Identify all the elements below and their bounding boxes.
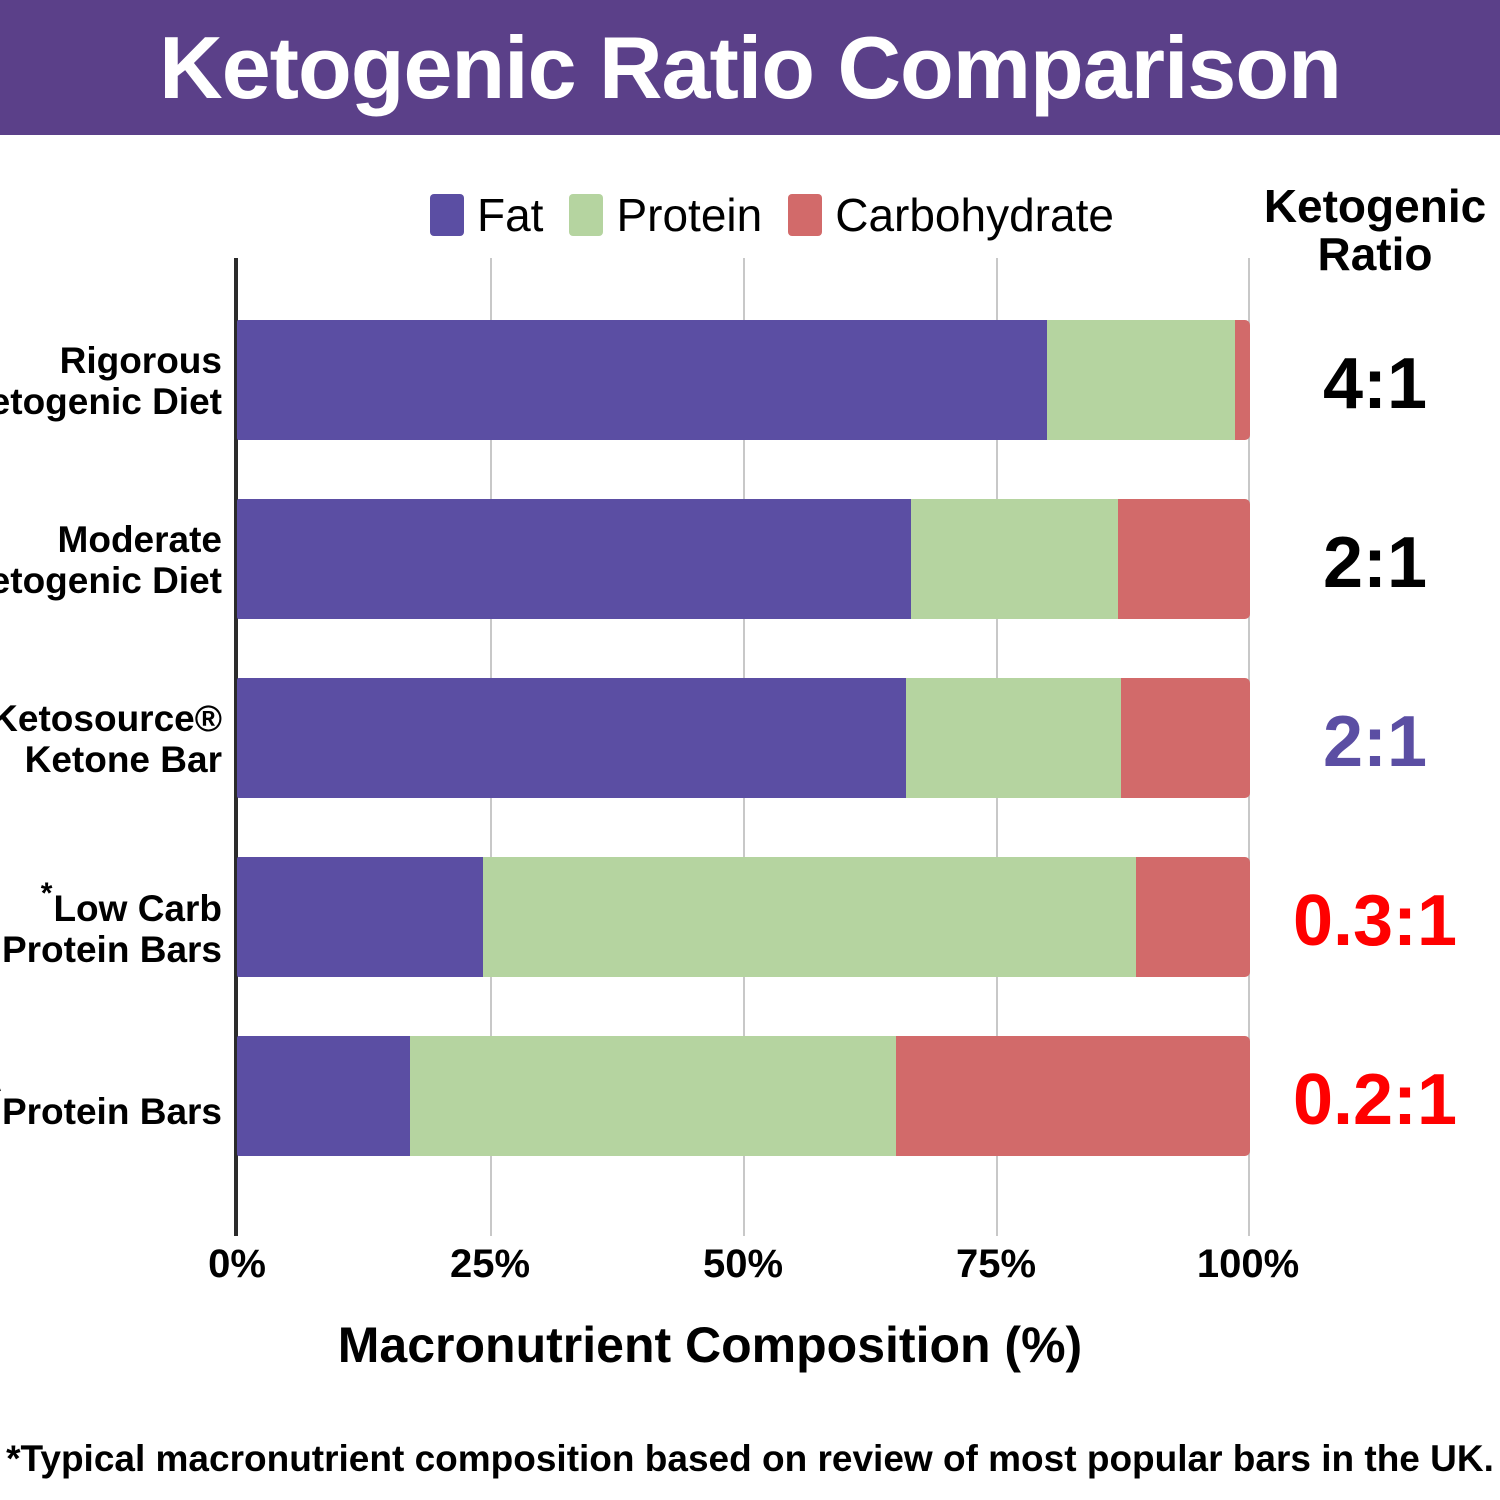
bar-segment-protein xyxy=(410,1036,896,1156)
bar-segment-carbohydrate xyxy=(1235,320,1250,440)
status-badge-ratio-0: 4:1 xyxy=(1250,348,1500,420)
category-label-4-line1: Protein Bars xyxy=(2,1091,222,1132)
category-label-2-line2: Ketone Bar xyxy=(25,739,222,780)
legend-label-fat: Fat xyxy=(477,192,543,238)
table-row xyxy=(237,678,1250,798)
x-axis-tick-25: 25% xyxy=(390,1244,590,1284)
bar-segment-protein xyxy=(483,857,1135,977)
category-label-3-line1: Low Carb xyxy=(53,888,222,929)
footnote-asterisk-marker-3: * xyxy=(41,877,53,910)
status-badge-ratio-3: 0.3:1 xyxy=(1250,885,1500,957)
x-axis-title: Macronutrient Composition (%) xyxy=(0,1320,1420,1370)
bar-segment-fat xyxy=(237,320,1047,440)
x-axis-tick-100: 100% xyxy=(1148,1244,1348,1284)
category-label-4: *Protein Bars xyxy=(0,1080,222,1132)
bar-segment-carbohydrate xyxy=(1136,857,1250,977)
category-label-0: Rigorous Ketogenic Diet xyxy=(0,340,222,423)
bar-segment-fat xyxy=(237,1036,410,1156)
category-label-2: Ketosource® Ketone Bar xyxy=(0,698,222,781)
legend-swatch-carbohydrate xyxy=(788,194,822,236)
bar-segment-carbohydrate xyxy=(1121,678,1250,798)
legend-label-protein: Protein xyxy=(616,192,762,238)
x-axis-tick-0: 0% xyxy=(137,1244,337,1284)
bar-segment-protein xyxy=(906,678,1122,798)
legend-swatch-fat xyxy=(430,194,464,236)
bar-segment-protein xyxy=(911,499,1119,619)
bar-segment-fat xyxy=(237,499,911,619)
table-row xyxy=(237,499,1250,619)
status-badge-ratio-2: 2:1 xyxy=(1250,706,1500,778)
category-label-1: Moderate Ketogenic Diet xyxy=(0,519,222,602)
chart-footnote: *Typical macronutrient composition based… xyxy=(0,1440,1500,1477)
ratio-header-line2: Ratio xyxy=(1250,230,1500,278)
table-row xyxy=(237,320,1250,440)
status-badge-ratio-1: 2:1 xyxy=(1250,527,1500,599)
ratio-header-line1: Ketogenic xyxy=(1250,182,1500,230)
bar-segment-protein xyxy=(1047,320,1234,440)
footnote-asterisk-marker-4: * xyxy=(0,1080,1,1113)
ratio-column-header: Ketogenic Ratio xyxy=(1250,182,1500,279)
x-axis-tick-50: 50% xyxy=(643,1244,843,1284)
title-banner: Ketogenic Ratio Comparison xyxy=(0,0,1500,135)
legend-item-carbohydrate: Carbohydrate xyxy=(788,192,1114,238)
category-label-3: *Low Carb Protein Bars xyxy=(0,877,222,971)
category-label-2-line1: Ketosource® xyxy=(0,698,222,739)
legend-item-fat: Fat xyxy=(430,192,543,238)
legend-item-protein: Protein xyxy=(569,192,762,238)
bar-segment-carbohydrate xyxy=(896,1036,1250,1156)
table-row xyxy=(237,857,1250,977)
bar-segment-fat xyxy=(237,857,483,977)
chart-legend: Fat Protein Carbohydrate xyxy=(430,186,1114,244)
plot-area xyxy=(237,258,1250,1236)
bar-segment-fat xyxy=(237,678,906,798)
category-label-1-line2: Ketogenic Diet xyxy=(0,560,222,601)
category-label-0-line2: Ketogenic Diet xyxy=(0,381,222,422)
table-row xyxy=(237,1036,1250,1156)
category-label-3-line2: Protein Bars xyxy=(2,929,222,970)
bar-segment-carbohydrate xyxy=(1118,499,1250,619)
category-label-0-line1: Rigorous xyxy=(60,340,222,381)
x-axis-tick-75: 75% xyxy=(896,1244,1096,1284)
page-title: Ketogenic Ratio Comparison xyxy=(159,24,1341,112)
legend-swatch-protein xyxy=(569,194,603,236)
legend-label-carbohydrate: Carbohydrate xyxy=(835,192,1114,238)
category-label-1-line1: Moderate xyxy=(58,519,222,560)
status-badge-ratio-4: 0.2:1 xyxy=(1250,1064,1500,1136)
